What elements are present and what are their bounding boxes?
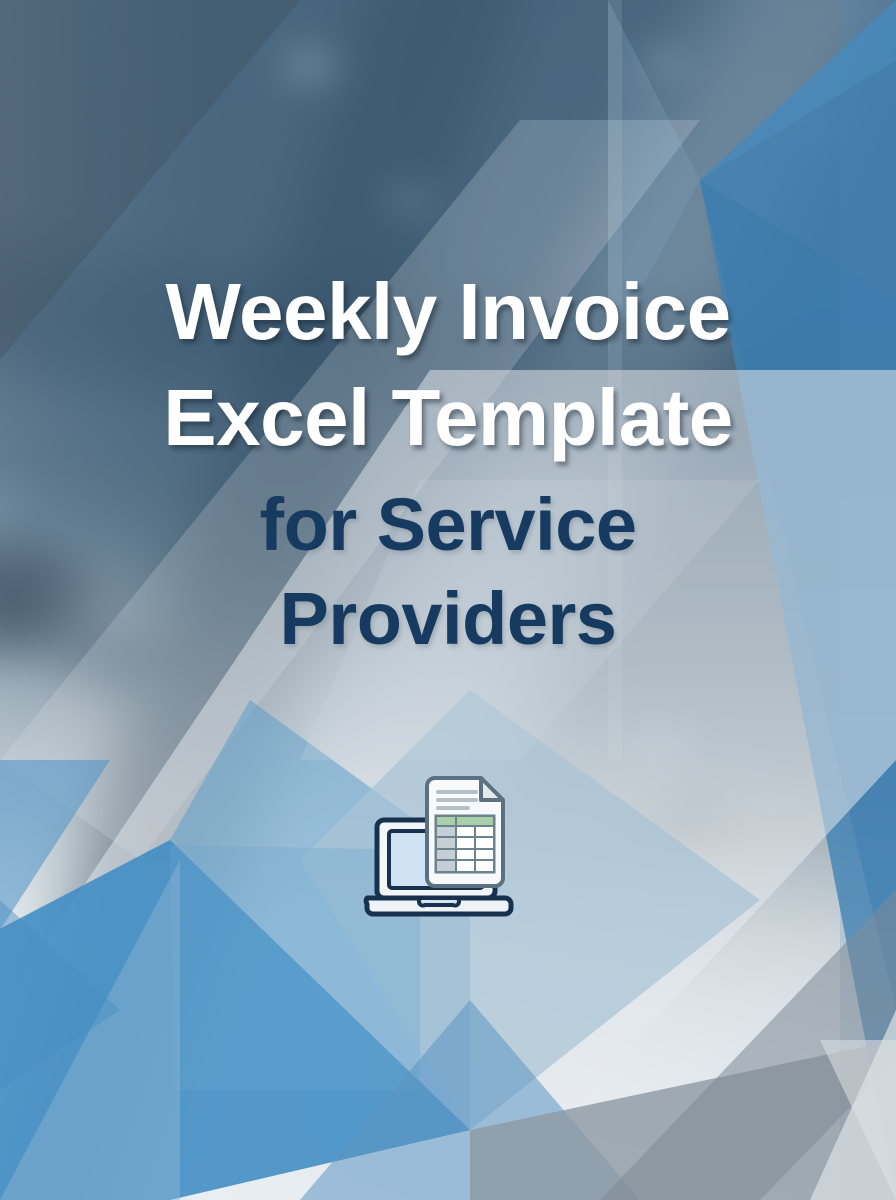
laptop-spreadsheet-icon <box>363 768 533 928</box>
page-title: Weekly Invoice Excel Template for Servic… <box>0 272 896 676</box>
sheet-header-row-right <box>456 816 494 826</box>
title-line-3: for Service <box>0 488 896 562</box>
sheet-first-column <box>436 826 456 872</box>
poster-canvas: Weekly Invoice Excel Template for Servic… <box>0 0 896 1200</box>
title-line-2: Excel Template <box>0 378 896 458</box>
sheet-table <box>436 816 494 872</box>
laptop-trackpad-notch <box>419 898 459 906</box>
sheet-header-row-left <box>436 816 456 826</box>
sheet-data-cells <box>456 826 494 872</box>
title-line-1: Weekly Invoice <box>0 272 896 352</box>
title-line-4: Providers <box>0 582 896 656</box>
sheet-folded-corner <box>481 778 503 800</box>
spreadsheet-document-icon <box>427 778 503 886</box>
